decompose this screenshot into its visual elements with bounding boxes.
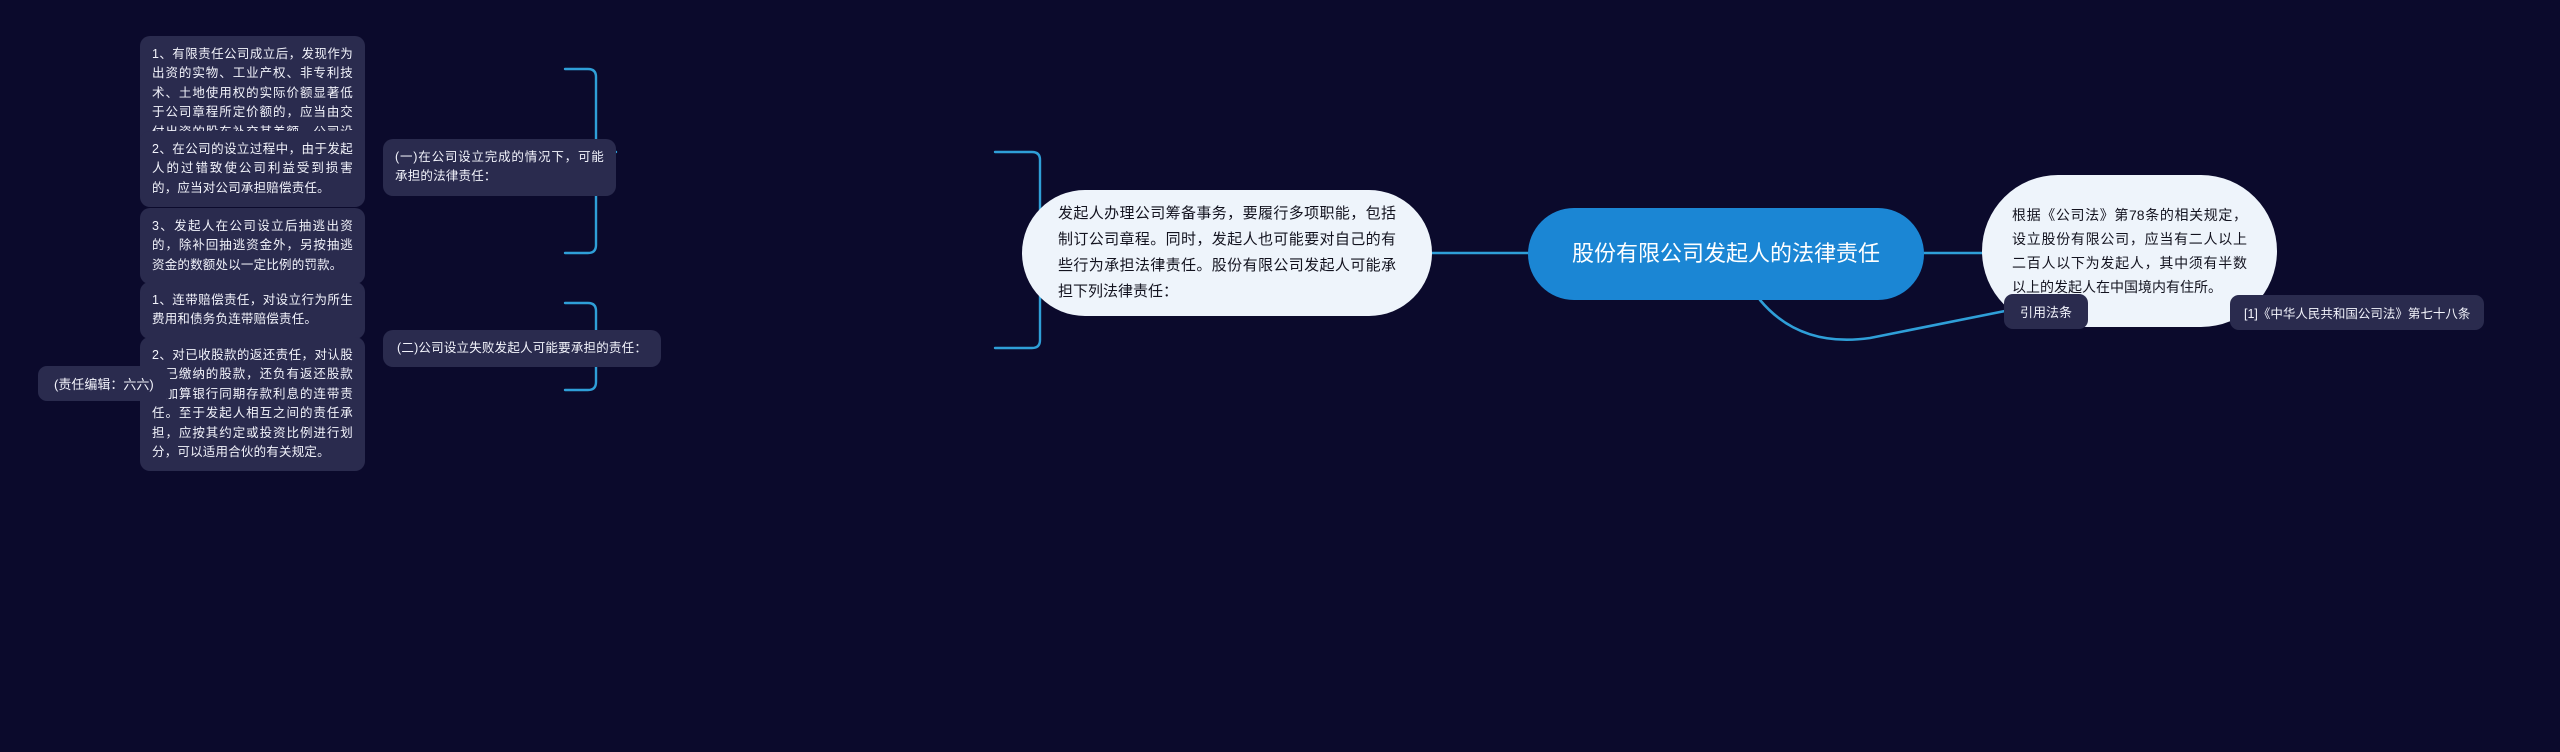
summary-bubble-text: 发起人办理公司筹备事务，要履行多项职能，包括制订公司章程。同时，发起人也可能要对…: [1022, 190, 1432, 316]
connector-lines: [0, 0, 2560, 752]
editor-chip-label: (责任编辑：六六): [38, 366, 170, 401]
editor-chip[interactable]: (责任编辑：六六): [38, 366, 170, 401]
law-reference-item-text: [1]《中华人民共和国公司法》第七十八条: [2230, 295, 2484, 330]
branch-label-one-text: (一)在公司设立完成的情况下，可能承担的法律责任：: [383, 139, 616, 196]
branch-label-two-text: (二)公司设立失败发起人可能要承担的责任：: [383, 330, 661, 367]
law-reference-chip[interactable]: 引用法条: [2004, 294, 2088, 329]
branch-label-two[interactable]: (二)公司设立失败发起人可能要承担的责任：: [383, 330, 616, 367]
branch-label-one[interactable]: (一)在公司设立完成的情况下，可能承担的法律责任：: [383, 139, 616, 196]
leaf-card-b2-2[interactable]: 2、对已收股款的返还责任，对认股人已缴纳的股款，还负有返还股款并加算银行同期存款…: [140, 337, 365, 471]
law-reference-chip-label: 引用法条: [2004, 294, 2088, 329]
leaf-card-b2-2-text: 2、对已收股款的返还责任，对认股人已缴纳的股款，还负有返还股款并加算银行同期存款…: [140, 337, 365, 471]
law-reference-item[interactable]: [1]《中华人民共和国公司法》第七十八条: [2230, 295, 2484, 330]
mindmap-canvas: 1、有限责任公司成立后，发现作为出资的实物、工业产权、非专利技术、土地使用权的实…: [0, 0, 2560, 752]
root-node[interactable]: 股份有限公司发起人的法律责任: [1528, 208, 1924, 300]
root-node-label: 股份有限公司发起人的法律责任: [1528, 208, 1924, 300]
leaf-card-b1-2[interactable]: 2、在公司的设立过程中，由于发起人的过错致使公司利益受到损害的，应当对公司承担赔…: [140, 131, 365, 207]
leaf-card-b1-3[interactable]: 3、发起人在公司设立后抽逃出资的，除补回抽逃资金外，另按抽逃资金的数额处以一定比…: [140, 208, 365, 284]
summary-bubble[interactable]: 发起人办理公司筹备事务，要履行多项职能，包括制订公司章程。同时，发起人也可能要对…: [1022, 190, 1432, 316]
leaf-card-b2-1[interactable]: 1、连带赔偿责任，对设立行为所生费用和债务负连带赔偿责任。: [140, 282, 365, 339]
leaf-card-b2-1-text: 1、连带赔偿责任，对设立行为所生费用和债务负连带赔偿责任。: [140, 282, 365, 339]
leaf-card-b1-3-text: 3、发起人在公司设立后抽逃出资的，除补回抽逃资金外，另按抽逃资金的数额处以一定比…: [140, 208, 365, 284]
leaf-card-b1-2-text: 2、在公司的设立过程中，由于发起人的过错致使公司利益受到损害的，应当对公司承担赔…: [140, 131, 365, 207]
